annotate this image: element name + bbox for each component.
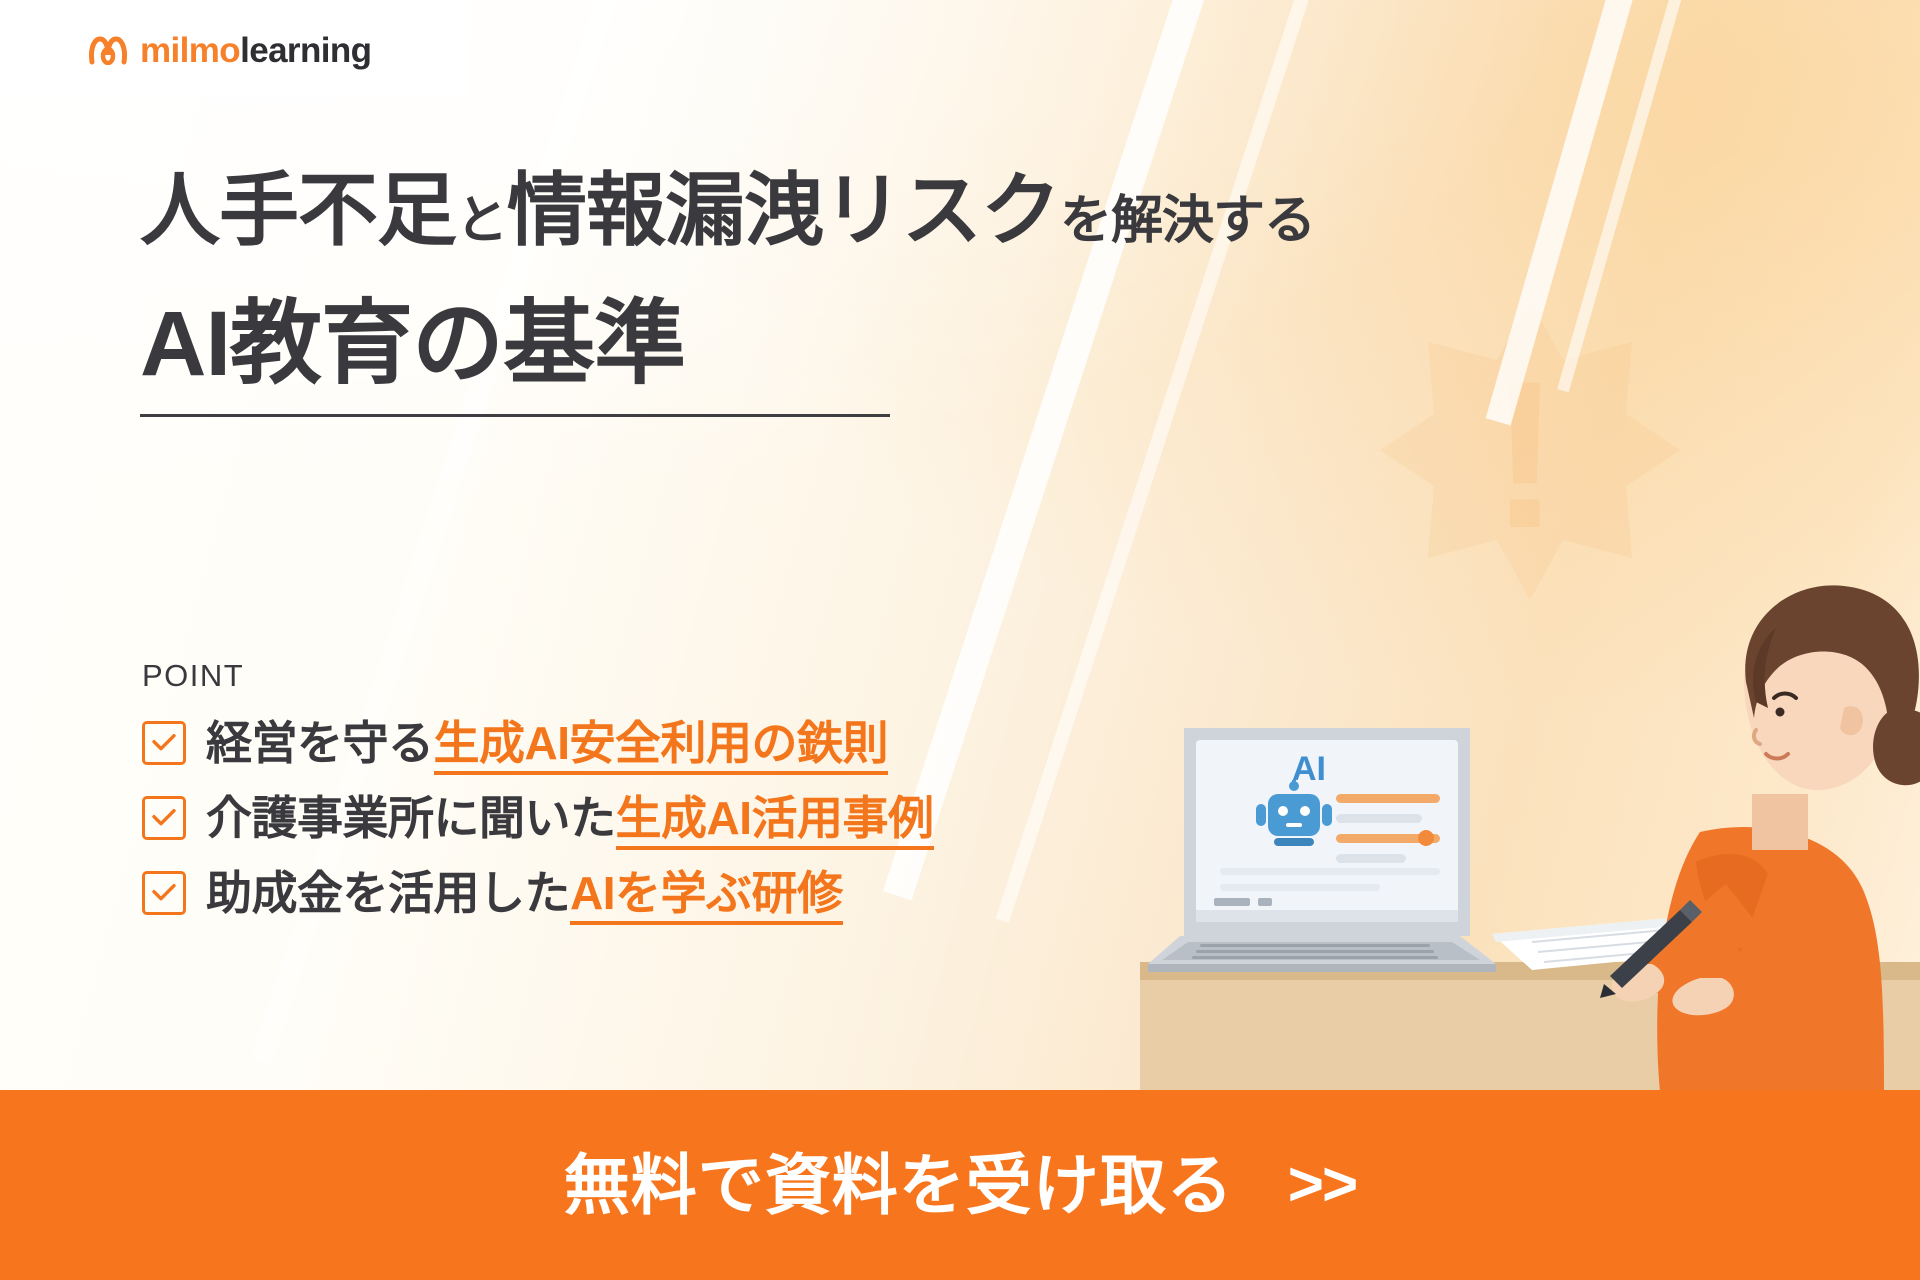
list-item: 助成金を活用したAIを学ぶ研修 bbox=[142, 867, 1142, 920]
point-block: POINT 経営を守る生成AI安全利用の鉄則 介護事業所に聞いた生成AI活用事例 bbox=[142, 660, 1142, 942]
woman-taking-notes-at-laptop-illustration: AI bbox=[1140, 532, 1920, 1092]
list-item: 介護事業所に聞いた生成AI活用事例 bbox=[142, 792, 1142, 845]
headline-line-1: 人手不足と情報漏洩リスクを解決する bbox=[140, 168, 1390, 254]
brand-logo[interactable]: milmolearning bbox=[88, 30, 371, 70]
headline-block: 人手不足と情報漏洩リスクを解決する AI教育の基準 bbox=[140, 168, 1390, 417]
cta-banner[interactable]: 無料で資料を受け取る >> bbox=[0, 1090, 1920, 1280]
point-item-text: 助成金を活用したAIを学ぶ研修 bbox=[206, 867, 843, 920]
point-item-highlight: 生成AI活用事例 bbox=[616, 792, 934, 850]
point-item-highlight: AIを学ぶ研修 bbox=[570, 867, 843, 925]
headline-segment-particle: と bbox=[456, 192, 507, 250]
point-item-plain: 助成金を活用した bbox=[206, 867, 570, 919]
point-item-plain: 介護事業所に聞いた bbox=[206, 792, 616, 844]
point-item-highlight: 生成AI安全利用の鉄則 bbox=[434, 717, 889, 775]
logo-text-primary: milmo bbox=[140, 31, 240, 70]
checkbox-checked-icon bbox=[142, 871, 186, 915]
chevron-right-double-icon: >> bbox=[1288, 1154, 1356, 1216]
headline-segment-keyword-1: 人手不足 bbox=[140, 166, 456, 255]
promo-banner: ! milmolearning 人手不足と情報漏洩リスクを解決する AI教育の基… bbox=[0, 0, 1920, 1280]
list-item: 経営を守る生成AI安全利用の鉄則 bbox=[142, 717, 1142, 770]
point-label: POINT bbox=[142, 660, 1142, 691]
checkbox-checked-icon bbox=[142, 721, 186, 765]
headline-line-2: AI教育の基準 bbox=[140, 294, 1390, 395]
point-item-text: 介護事業所に聞いた生成AI活用事例 bbox=[206, 792, 934, 845]
headline-segment-keyword-2: 情報漏洩リスク bbox=[507, 166, 1060, 255]
headline-segment-tail: を解決する bbox=[1060, 192, 1315, 250]
logo-text-secondary: learning bbox=[240, 31, 371, 70]
checkbox-checked-icon bbox=[142, 796, 186, 840]
point-item-plain: 経営を守る bbox=[206, 717, 434, 769]
headline-underline bbox=[140, 414, 890, 417]
milmo-mark-icon bbox=[88, 35, 128, 65]
point-item-text: 経営を守る生成AI安全利用の鉄則 bbox=[206, 717, 888, 770]
cta-label: 無料で資料を受け取る bbox=[564, 1152, 1234, 1218]
